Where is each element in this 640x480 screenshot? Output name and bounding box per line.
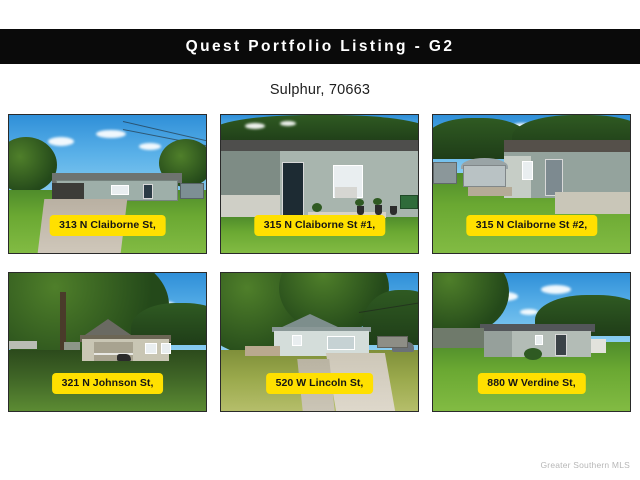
address-badge-3: 315 N Claiborne St #2, [466,215,597,236]
page-title: Quest Portfolio Listing - G2 [186,38,455,56]
photo-card-5[interactable]: 520 W Lincoln St, [220,272,419,412]
photo-card-6[interactable]: 880 W Verdine St, [432,272,631,412]
address-badge-5: 520 W Lincoln St, [266,373,374,394]
photo-card-2[interactable]: 315 N Claiborne St #1, [220,114,419,254]
address-badge-4: 321 N Johnson St, [52,373,164,394]
photo-gallery-grid: 313 N Claiborne St, [8,114,632,430]
gallery-row-1: 313 N Claiborne St, [8,114,632,254]
gallery-row-2: 321 N Johnson St, [8,272,632,412]
photo-card-1[interactable]: 313 N Claiborne St, [8,114,207,254]
address-badge-2: 315 N Claiborne St #1, [254,215,385,236]
address-badge-1: 313 N Claiborne St, [49,215,166,236]
location-subtitle: Sulphur, 70663 [0,82,640,98]
photo-card-3[interactable]: 315 N Claiborne St #2, [432,114,631,254]
title-bar: Quest Portfolio Listing - G2 [0,29,640,64]
mls-attribution: Greater Southern MLS [540,460,630,470]
address-badge-6: 880 W Verdine St, [477,373,585,394]
photo-card-4[interactable]: 321 N Johnson St, [8,272,207,412]
